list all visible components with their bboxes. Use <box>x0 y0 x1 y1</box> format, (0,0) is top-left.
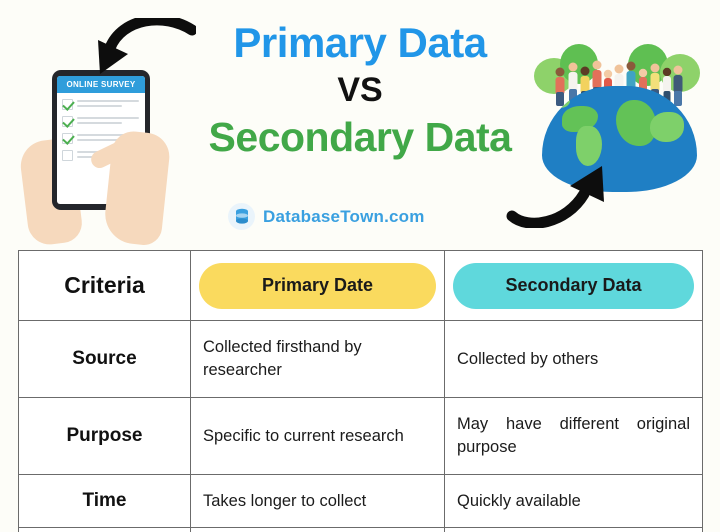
row-label-source: Source <box>31 348 178 370</box>
hero-section: ONLINE SURVEY <box>0 0 720 248</box>
criteria-header-label: Criteria <box>27 272 182 299</box>
cell-primary-purpose: Specific to current research <box>191 398 445 475</box>
cutoff-cell <box>191 528 445 532</box>
curved-arrow-up-right-icon <box>506 158 624 228</box>
comparison-table: Criteria Primary Date Secondary Data Sou… <box>18 250 703 532</box>
brand-logo-group: DatabaseTown.com <box>228 203 425 230</box>
cell-text: May have different original purpose <box>457 413 690 459</box>
survey-item <box>62 99 145 110</box>
table-row: Purpose Specific to current research May… <box>19 398 703 475</box>
title-vs: VS <box>160 68 560 112</box>
header-cell-criteria: Criteria <box>19 251 191 321</box>
cell-text: Quickly available <box>457 490 690 513</box>
row-label-cell: Purpose <box>19 398 191 475</box>
cell-text: Takes longer to collect <box>203 490 432 513</box>
checkmark-icon <box>62 99 73 110</box>
primary-header-pill: Primary Date <box>199 263 436 309</box>
table-row-cutoff <box>19 528 703 532</box>
cell-primary-time: Takes longer to collect <box>191 475 445 528</box>
cell-text: Specific to current research <box>203 425 432 448</box>
header-cell-primary: Primary Date <box>191 251 445 321</box>
row-label-cell: Source <box>19 321 191 398</box>
title-secondary: Secondary Data <box>160 112 560 162</box>
cell-primary-source: Collected firsthand by researcher <box>191 321 445 398</box>
secondary-header-pill: Secondary Data <box>453 263 694 309</box>
title-primary: Primary Data <box>160 18 560 68</box>
table-row: Time Takes longer to collect Quickly ava… <box>19 475 703 528</box>
checkmark-icon <box>62 116 73 127</box>
cell-secondary-source: Collected by others <box>445 321 703 398</box>
cell-secondary-time: Quickly available <box>445 475 703 528</box>
cell-text: Collected firsthand by researcher <box>203 336 432 382</box>
survey-text-lines <box>77 117 139 126</box>
hero-titles: Primary Data VS Secondary Data <box>160 18 560 162</box>
table-row: Source Collected firsthand by researcher… <box>19 321 703 398</box>
infographic-page: ONLINE SURVEY <box>0 0 720 532</box>
tablet-online-survey-icon: ONLINE SURVEY <box>16 62 181 247</box>
empty-checkbox-icon <box>62 150 73 161</box>
comparison-table-wrapper: Criteria Primary Date Secondary Data Sou… <box>18 250 702 532</box>
table-header-row: Criteria Primary Date Secondary Data <box>19 251 703 321</box>
survey-text-lines <box>77 100 139 109</box>
cell-text: Collected by others <box>457 348 690 371</box>
checkmark-icon <box>62 133 73 144</box>
header-cell-secondary: Secondary Data <box>445 251 703 321</box>
row-label-cell: Time <box>19 475 191 528</box>
database-cylinder-icon <box>228 203 255 230</box>
row-label-purpose: Purpose <box>31 425 178 447</box>
cutoff-cell <box>445 528 703 532</box>
row-label-time: Time <box>31 490 178 512</box>
cell-secondary-purpose: May have different original purpose <box>445 398 703 475</box>
brand-name: DatabaseTown.com <box>263 207 425 227</box>
survey-item <box>62 116 145 127</box>
cutoff-cell <box>19 528 191 532</box>
